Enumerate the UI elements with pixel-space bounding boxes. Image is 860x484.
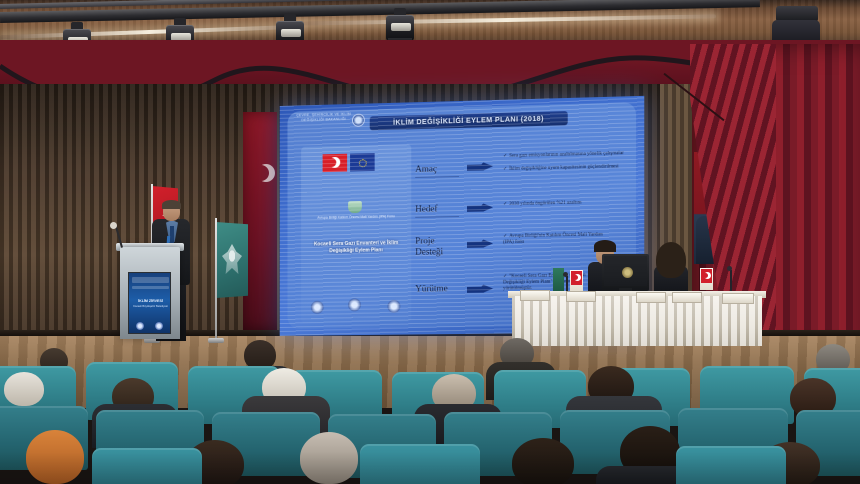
- turkish-flag-icon: [323, 154, 348, 172]
- green-desk-flag: [553, 268, 564, 292]
- slide-row-amac: Amaç ✓Sera gazı emisyonlarının azaltılma…: [415, 151, 632, 156]
- monitor-screen: [604, 256, 647, 286]
- checkmark-icon: ✓: [503, 234, 507, 239]
- podium-display-logo-right: [155, 322, 163, 330]
- stage-side-door-curtain: [243, 112, 277, 330]
- kocaeli-institutional-flag: [216, 222, 248, 298]
- desktop-monitor: [602, 254, 649, 291]
- podium-display-logo-left: [136, 322, 144, 330]
- ministry-seal-icon: [352, 114, 365, 127]
- nameplate: [566, 291, 596, 302]
- arrow-right-icon: [467, 284, 493, 295]
- ministry-header-text: ÇEVRE, ŞEHİRCİLİK VE İKLİM DEĞİŞİKLİĞİ B…: [293, 112, 354, 133]
- table-microphone-1: [563, 272, 568, 277]
- flag-pole-base-kocaeli: [208, 338, 224, 343]
- flag-pole-kocaeli: [215, 218, 217, 342]
- slide-title: İKLİM DEĞİŞİKLİĞİ EYLEM PLANI (2018): [370, 111, 568, 130]
- spotlight-lens: [391, 23, 411, 31]
- row-underline: [415, 216, 459, 218]
- crescent-icon-door: [253, 165, 269, 181]
- table-microphone-stem-2: [730, 270, 732, 292]
- nameplate: [520, 290, 550, 301]
- audience-head: [4, 372, 44, 406]
- arrow-head: [481, 238, 493, 248]
- arrow-right-icon: [467, 238, 493, 249]
- podium-display-title: İKLİM ZİRVESİ: [132, 299, 169, 303]
- slide-row-label: Amaç: [415, 164, 437, 175]
- slide-left-subtitle: Avrupa Birliği Katılım Öncesi Mali Yardı…: [305, 214, 407, 220]
- eu-flag-icon: [350, 153, 375, 171]
- footer-badge-icon-3: [387, 300, 400, 313]
- row-underline: [415, 176, 459, 178]
- nameplate: [722, 293, 754, 304]
- slide-row-label: Yürütme: [415, 283, 447, 294]
- checkmark-icon: ✓: [503, 202, 507, 207]
- podium-microphone: [110, 222, 117, 229]
- footer-badge-icon-2: [348, 298, 361, 311]
- podium-display-header: [132, 277, 169, 283]
- arrow-right-icon: [467, 202, 493, 214]
- conference-hall-scene: ÇEVRE, ŞEHİRCİLİK VE İKLİM DEĞİŞİKLİĞİ B…: [0, 0, 860, 484]
- podium-display: İKLİM ZİRVESİ Kocaeli Büyükşehir Belediy…: [128, 272, 171, 334]
- project-logo-icon: [348, 201, 362, 213]
- spotlight-lens: [281, 29, 301, 37]
- nameplate: [672, 292, 702, 303]
- panelist-hair: [594, 240, 616, 252]
- podium-display-band: [132, 286, 169, 289]
- slide-row-hedef: Hedef ✓2030 yılında öngörülen %21 azaltı…: [415, 198, 632, 202]
- slide-bullet: ✓2030 yılında öngörülen %21 azaltım: [503, 200, 631, 209]
- checkmark-icon: ✓: [503, 167, 507, 172]
- table-microphone-2: [727, 266, 732, 271]
- slide-left-panel: Avrupa Birliği Katılım Öncesi Mali Yardı…: [301, 144, 411, 323]
- arrow-right-icon: [467, 161, 493, 173]
- speaker-hair: [162, 200, 181, 209]
- turkish-desk-flag-right: [700, 268, 713, 290]
- arrow-head: [481, 161, 493, 171]
- slide-left-project-title: Kocaeli Sera Gazı Envanteri ve İklim Değ…: [305, 240, 407, 255]
- monitor-emblem-icon: [622, 267, 633, 278]
- slide-left-footer: [311, 294, 401, 321]
- slide-bullet: ✓İklim değişikliğine uyum kapasitesinin …: [503, 164, 631, 173]
- slide-bullet: ✓Sera gazı emisyonlarının azaltılmasına …: [503, 151, 631, 160]
- slide-row-label: Hedef: [415, 203, 437, 214]
- footer-badge-icon-1: [311, 301, 324, 314]
- flag-pair: [323, 153, 376, 174]
- turkish-desk-flag-left: [570, 270, 583, 292]
- arrow-head: [481, 202, 493, 212]
- checkmark-icon: ✓: [503, 274, 507, 279]
- slide-row-proje-destegi: Proje Desteği ✓Avrupa Birliği'nin Katılı…: [415, 232, 632, 236]
- checkmark-icon: ✓: [503, 154, 507, 159]
- podium-display-subtitle: Kocaeli Büyükşehir Belediyesi: [132, 305, 169, 308]
- nameplate: [636, 292, 666, 303]
- table-microphone-stem-1: [566, 276, 568, 292]
- foreground-shadow: [0, 452, 860, 484]
- panelist-hair: [656, 242, 686, 278]
- slide-row-label: Proje Desteği: [415, 235, 455, 258]
- arrow-head: [481, 284, 493, 294]
